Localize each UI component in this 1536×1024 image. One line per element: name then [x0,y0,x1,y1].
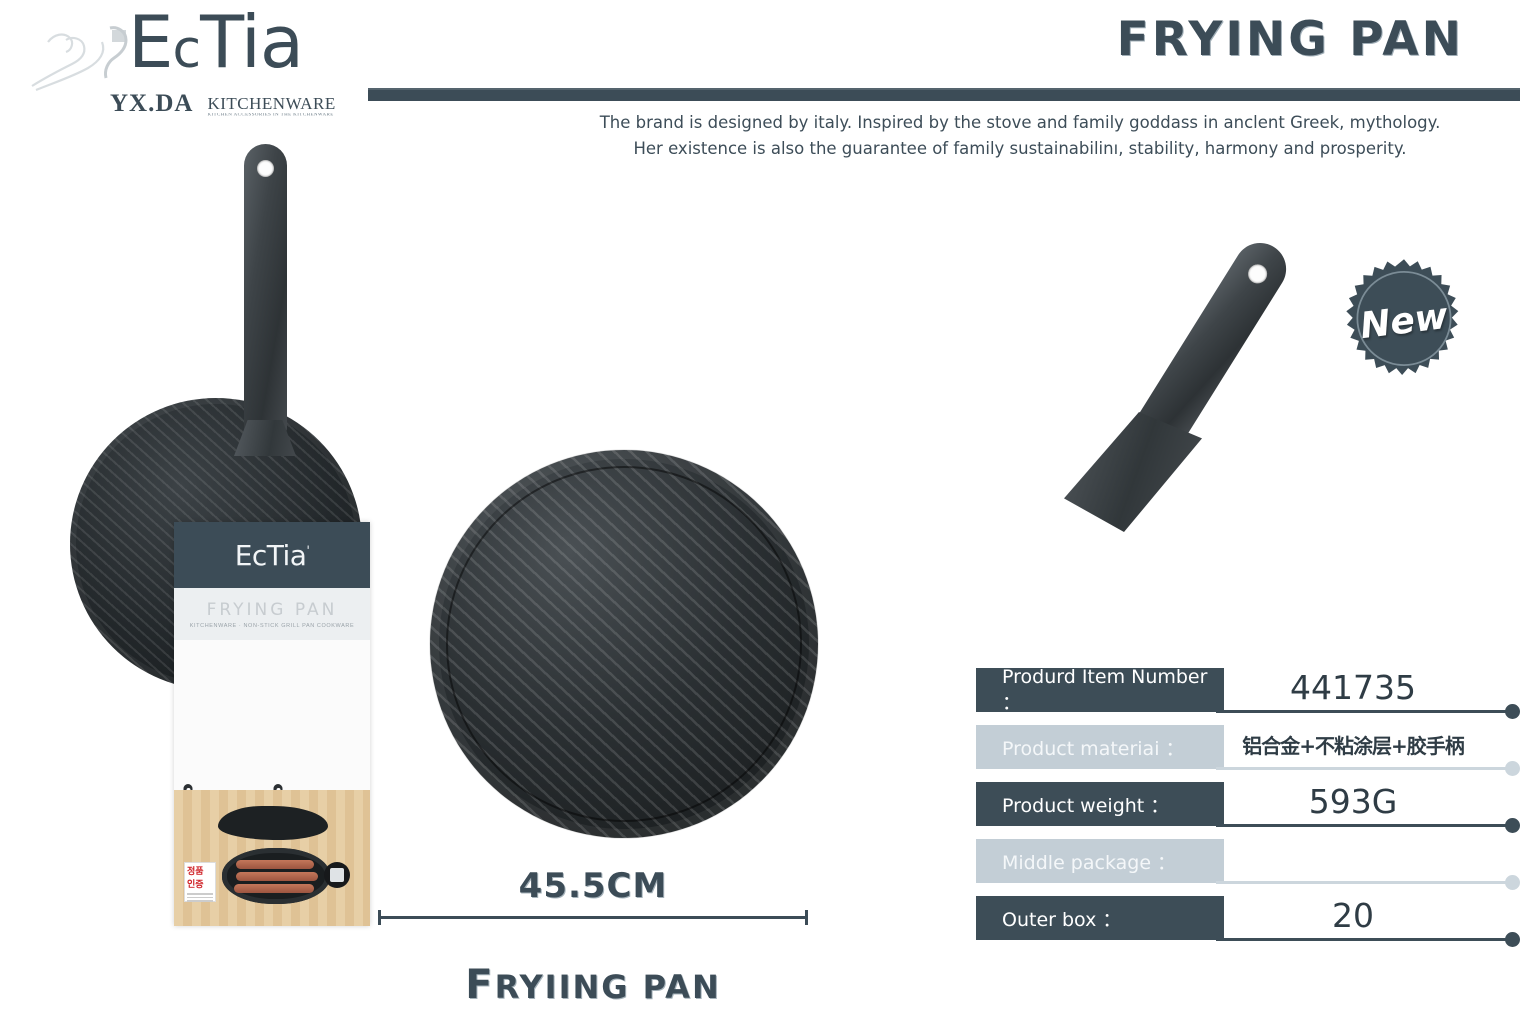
dimension-endcap-right [805,910,808,925]
brand-wordmark: EcTia [128,6,303,78]
table-row: Produrd Item Number ： 441735 [976,668,1520,725]
package-pan-illustrations [174,640,370,790]
sticker-line1: 정품 [187,867,213,876]
spec-value-material: 铝合金+不粘涂层+胶手柄 [1226,722,1480,766]
dimension-endcap-left [378,910,381,925]
package-brand: EcTia' [235,539,310,572]
category-subtext: KITCHEN ACCESSORIES IN THE KITCHENWARE [207,113,335,117]
header-divider [368,88,1520,101]
new-badge: New [1338,258,1470,384]
package-lifestyle-photo: 정품 인증 [174,790,370,926]
spec-connector-dot [1505,818,1520,833]
logo-subtitle-row: YX.DA KITCHENWARE KITCHEN ACCESSORIES IN… [110,90,370,118]
package-brand-text: EcTia [235,539,307,572]
package-subtitle-small: KITCHENWARE · NON-STICK GRILL PAN COOKWA… [190,623,354,629]
page-title: FRYING PAN [1117,12,1464,67]
dimension-label: 45.5CM [378,866,808,906]
packaged-product-image: EcTia' FRYING PAN KITCHENWARE · NON-STIC… [48,130,368,810]
table-row: Middle package ： [976,839,1520,896]
brand-description: The brand is designed by italy. Inspired… [560,110,1480,161]
brand-letters-ia: ia [241,0,303,84]
sausage [236,860,314,869]
sausage [236,872,318,881]
spec-connector-line [1216,938,1506,941]
spec-value-middle-package [1226,836,1480,880]
certification-sticker: 정품 인증 [184,862,216,902]
brand-letter-t: T [200,0,241,84]
package-pan-handle [244,144,287,434]
category-text: KITCHENWARE [207,94,335,113]
spec-connector-line [1216,824,1506,827]
category-label: KITCHENWARE KITCHEN ACCESSORIES IN THE K… [207,95,335,118]
table-row: Product weight ： 593G [976,782,1520,839]
knob-label-icon [330,868,344,882]
retail-package-card: EcTia' FRYING PAN KITCHENWARE · NON-STIC… [174,522,370,926]
pan-knob [324,862,350,888]
spec-label-middle-package: Middle package ： [976,839,1224,883]
spec-label-material: Product materiai ： [976,725,1224,769]
dimension-bar [378,916,808,919]
spec-connector-line [1216,767,1506,770]
pan-handle-neck [1052,412,1202,532]
sticker-rule [187,897,213,899]
table-row: Outer box ： 20 [976,896,1520,953]
spec-connector-dot [1505,704,1520,719]
dimension-annotation: 45.5CM [378,866,808,924]
table-row: Product materiai ： 铝合金+不粘涂层+胶手柄 [976,725,1520,782]
dimension-line [378,910,808,924]
brand-letter-e: E [128,0,173,84]
sausage [234,884,314,893]
package-card-header: EcTia' [174,522,370,588]
spec-value-item-number: 441735 [1226,665,1480,709]
caption-first-letter: F [465,962,494,1008]
brand-letter-c: c [173,20,201,80]
spec-value-weight: 593G [1226,779,1480,823]
spec-value-outer-box: 20 [1226,893,1480,937]
package-card-subtitle: FRYING PAN KITCHENWARE · NON-STICK GRILL… [174,588,370,640]
spec-connector-dot [1505,875,1520,890]
brand-logo: EcTia YX.DA KITCHENWARE KITCHEN ACCESSOR… [18,6,368,110]
package-subtitle-text: FRYING PAN [207,600,338,620]
sticker-line2: 인증 [187,880,213,889]
package-brand-mark: ' [306,543,309,557]
spec-connector-dot [1505,761,1520,776]
spec-connector-line [1216,710,1506,713]
catalog-page: EcTia YX.DA KITCHENWARE KITCHEN ACCESSOR… [0,0,1536,1024]
caption-rest: RYIING PAN [495,968,721,1006]
company-name: YX.DA [110,90,193,118]
spec-label-outer-box: Outer box ： [976,896,1224,940]
spec-label-weight: Product weight ： [976,782,1224,826]
new-badge-label: New [1331,250,1477,391]
spec-connector-dot [1505,932,1520,947]
spec-label-item-number: Produrd Item Number ： [976,668,1224,712]
brand-description-line2: Her existence is also the guarantee of f… [560,136,1480,162]
main-product-image [400,200,1000,860]
oven-mitt [218,806,328,840]
product-name-caption: FRYIING PAN [378,962,808,1008]
specification-table: Produrd Item Number ： 441735 Product mat… [976,668,1520,953]
brand-description-line1: The brand is designed by italy. Inspired… [560,110,1480,136]
spec-connector-line [1216,881,1506,884]
pan-cooking-surface [430,450,818,838]
sticker-rule [187,893,213,895]
sticker-rule [187,900,213,902]
